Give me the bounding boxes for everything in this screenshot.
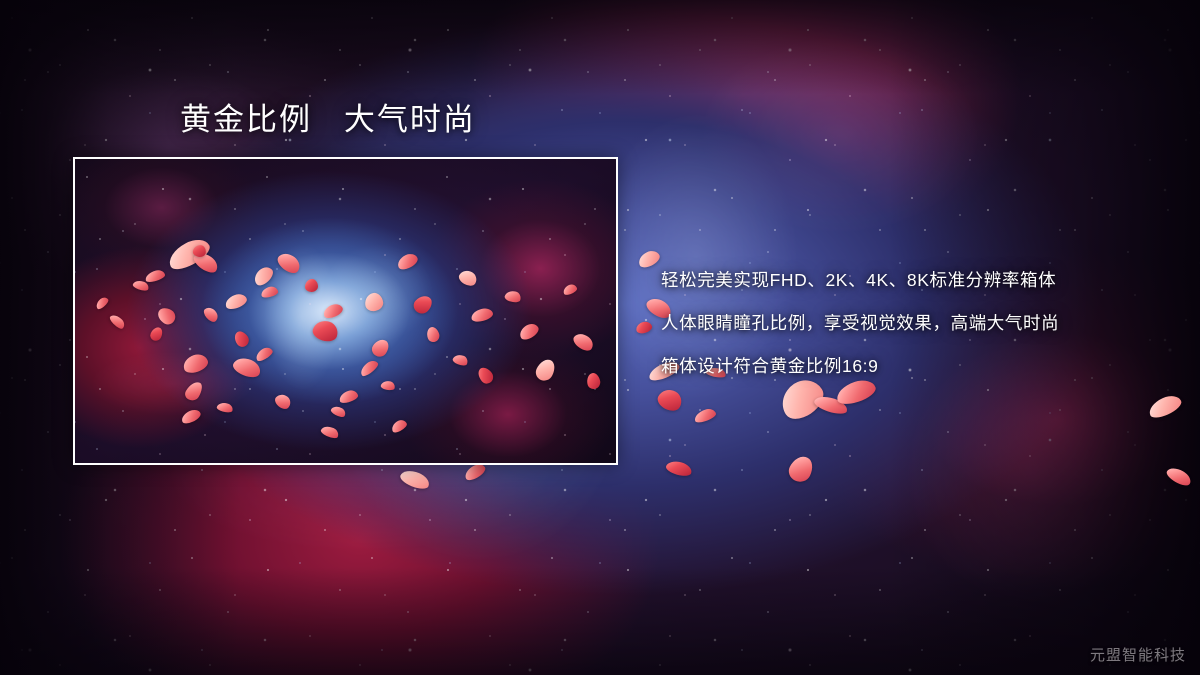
page-title: 黄金比例 大气时尚 (180, 101, 476, 139)
watermark: 元盟智能科技 (1090, 644, 1186, 665)
nebula-petals-photo-frame (73, 157, 618, 465)
body-line-1: 轻松完美实现FHD、2K、4K、8K标准分辨率箱体 (661, 259, 1191, 302)
photo-wisp-overlay (75, 159, 616, 463)
body-line-2: 人体眼睛瞳孔比例，享受视觉效果，高端大气时尚 (661, 302, 1191, 345)
body-copy-block: 轻松完美实现FHD、2K、4K、8K标准分辨率箱体 人体眼睛瞳孔比例，享受视觉效… (661, 259, 1191, 388)
body-line-3: 箱体设计符合黄金比例16:9 (661, 345, 1191, 388)
presentation-slide: 黄金比例 大气时尚 轻松完美实现FHD、2K、4K、8K标准分辨率箱体 人体眼睛… (0, 0, 1200, 675)
